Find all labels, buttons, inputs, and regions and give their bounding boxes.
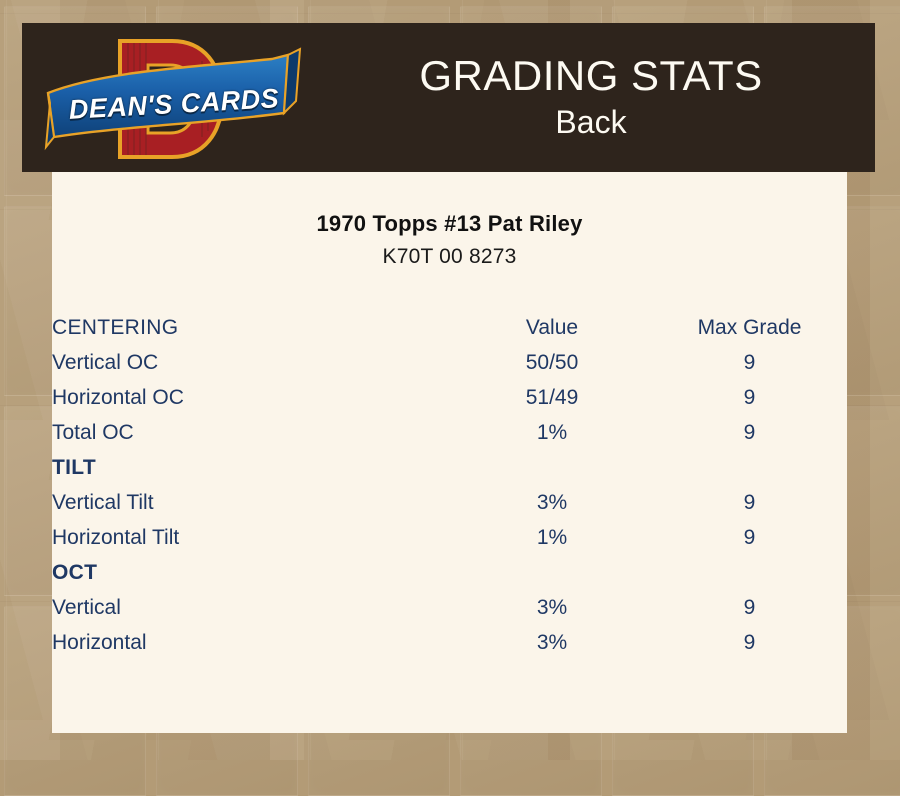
stat-max-grade: 9 — [652, 345, 847, 380]
stat-max-grade: 9 — [652, 520, 847, 555]
table-row: Horizontal OC51/499 — [52, 380, 847, 415]
stats-section-name: TILT — [52, 450, 452, 485]
stat-max-grade: 9 — [652, 485, 847, 520]
stat-value: 51/49 — [452, 380, 652, 415]
stat-label: Horizontal Tilt — [52, 520, 452, 555]
stat-max-grade: 9 — [652, 415, 847, 450]
column-header-centering: CENTERING — [52, 310, 452, 345]
page-title: GRADING STATS — [419, 53, 762, 98]
stats-section-spacer — [652, 555, 847, 590]
stat-max-grade: 9 — [652, 380, 847, 415]
header-title-block: GRADING STATS Back — [307, 23, 875, 172]
stat-value: 3% — [452, 625, 652, 660]
stats-table-body: Vertical OC50/509Horizontal OC51/499Tota… — [52, 345, 847, 660]
content-panel: 1970 Topps #13 Pat Riley K70T 00 8273 CE… — [52, 172, 847, 733]
stats-section-name: OCT — [52, 555, 452, 590]
stats-section-spacer — [452, 555, 652, 590]
stats-section-header: OCT — [52, 555, 847, 590]
deans-cards-logo[interactable]: DEAN'S CARDS — [44, 31, 304, 165]
stats-section-header: TILT — [52, 450, 847, 485]
grading-stats-table: CENTERING Value Max Grade Vertical OC50/… — [52, 310, 847, 660]
stat-max-grade: 9 — [652, 590, 847, 625]
stat-max-grade: 9 — [652, 625, 847, 660]
header-bar: DEAN'S CARDS GRADING STATS Back — [22, 23, 875, 172]
stat-label: Vertical Tilt — [52, 485, 452, 520]
stat-label: Horizontal OC — [52, 380, 452, 415]
column-header-max-grade: Max Grade — [652, 310, 847, 345]
stats-section-spacer — [652, 450, 847, 485]
table-row: Horizontal Tilt1%9 — [52, 520, 847, 555]
table-row: Vertical OC50/509 — [52, 345, 847, 380]
stat-value: 3% — [452, 485, 652, 520]
stat-label: Total OC — [52, 415, 452, 450]
stat-value: 50/50 — [452, 345, 652, 380]
stat-value: 1% — [452, 520, 652, 555]
table-row: Vertical3%9 — [52, 590, 847, 625]
stats-section-spacer — [452, 450, 652, 485]
table-row: Total OC1%9 — [52, 415, 847, 450]
stat-value: 1% — [452, 415, 652, 450]
stats-table-head: CENTERING Value Max Grade — [52, 310, 847, 345]
page-subtitle: Back — [555, 102, 626, 142]
column-header-value: Value — [452, 310, 652, 345]
table-header-row: CENTERING Value Max Grade — [52, 310, 847, 345]
stat-value: 3% — [452, 590, 652, 625]
card-serial-number: K70T 00 8273 — [52, 237, 847, 269]
stat-label: Vertical OC — [52, 345, 452, 380]
table-row: Vertical Tilt3%9 — [52, 485, 847, 520]
stat-label: Horizontal — [52, 625, 452, 660]
stat-label: Vertical — [52, 590, 452, 625]
card-title: 1970 Topps #13 Pat Riley — [52, 172, 847, 237]
table-row: Horizontal3%9 — [52, 625, 847, 660]
